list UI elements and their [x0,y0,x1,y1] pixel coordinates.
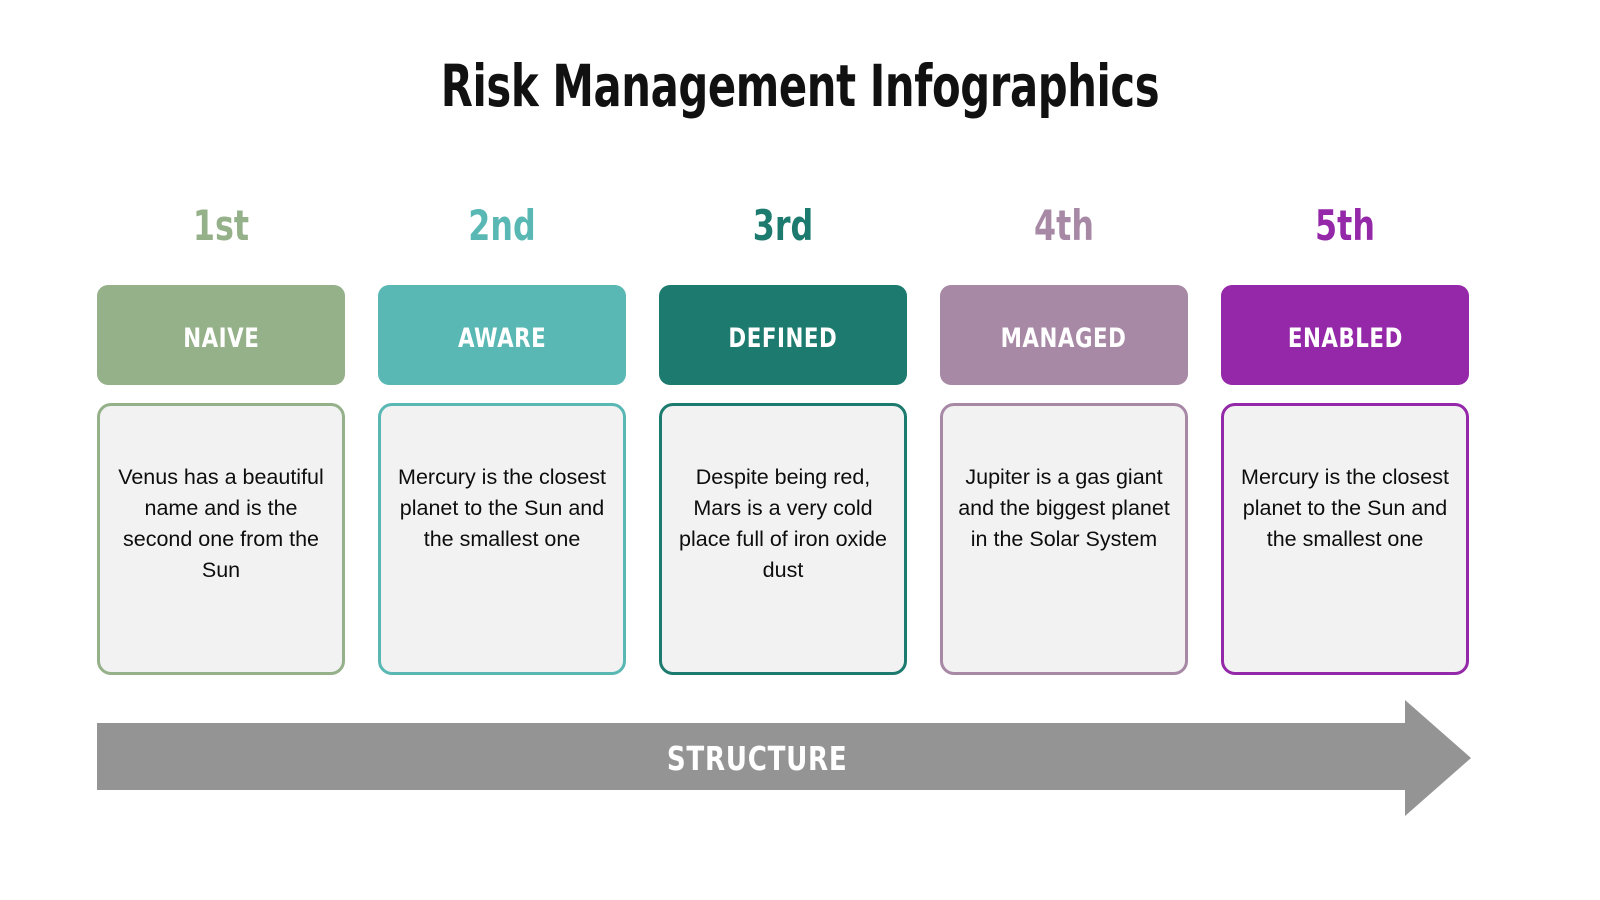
stage-card-5[interactable]: Mercury is the closest planet to the Sun… [1221,403,1469,675]
stage-pill-label-3: DEFINED [729,323,838,354]
stage-card-4[interactable]: Jupiter is a gas giant and the biggest p… [940,403,1188,675]
stage-pill-2[interactable]: AWARE [378,285,626,385]
stage-column-4[interactable]: 4th MANAGED Jupiter is a gas giant and t… [940,196,1188,675]
stage-column-1[interactable]: 1st NAIVE Venus has a beautiful name and… [97,196,345,675]
stage-pill-3[interactable]: DEFINED [659,285,907,385]
stage-column-3[interactable]: 3rd DEFINED Despite being red, Mars is a… [659,196,907,675]
stage-columns: 1st NAIVE Venus has a beautiful name and… [97,196,1471,675]
right-arrow-icon [97,700,1471,816]
stage-card-1[interactable]: Venus has a beautiful name and is the se… [97,403,345,675]
slide-canvas: Risk Management Infographics 1st NAIVE V… [0,0,1600,900]
stage-pill-1[interactable]: NAIVE [97,285,345,385]
stage-card-2[interactable]: Mercury is the closest planet to the Sun… [378,403,626,675]
stage-card-text-4: Jupiter is a gas giant and the biggest p… [955,462,1173,555]
stage-column-2[interactable]: 2nd AWARE Mercury is the closest planet … [378,196,626,675]
stage-card-text-5: Mercury is the closest planet to the Sun… [1236,462,1454,555]
stage-card-text-3: Despite being red, Mars is a very cold p… [674,462,892,586]
stage-pill-4[interactable]: MANAGED [940,285,1188,385]
stage-pill-label-5: ENABLED [1287,323,1402,354]
page-title: Risk Management Infographics [160,55,1440,119]
stage-card-3[interactable]: Despite being red, Mars is a very cold p… [659,403,907,675]
stage-ordinal-4: 4th [960,196,1168,256]
stage-pill-label-1: NAIVE [183,323,259,354]
stage-card-text-1: Venus has a beautiful name and is the se… [112,462,330,586]
stage-pill-label-4: MANAGED [1001,323,1127,354]
stage-pill-label-2: AWARE [458,323,546,354]
stage-pill-5[interactable]: ENABLED [1221,285,1469,385]
stage-ordinal-3: 3rd [679,196,887,256]
stage-ordinal-5: 5th [1241,196,1449,256]
stage-ordinal-2: 2nd [398,196,606,256]
stage-column-5[interactable]: 5th ENABLED Mercury is the closest plane… [1221,196,1469,675]
stage-ordinal-1: 1st [117,196,325,256]
stage-card-text-2: Mercury is the closest planet to the Sun… [393,462,611,555]
structure-arrow [97,700,1471,816]
